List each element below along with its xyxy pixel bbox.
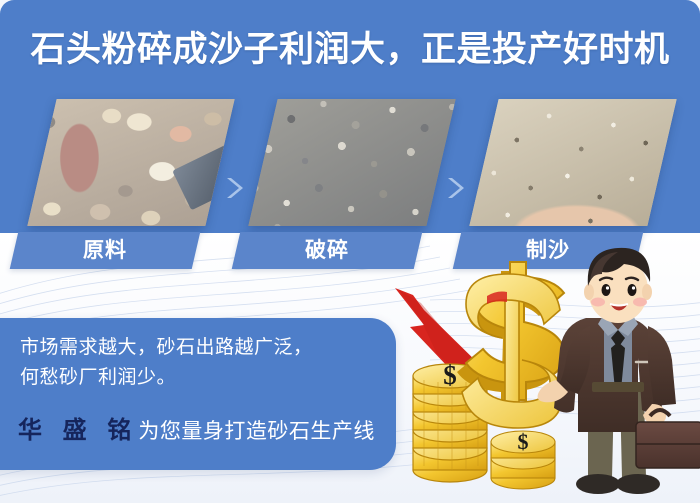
coin-stack: $ <box>413 360 487 482</box>
process-caption-label: 原料 <box>14 232 196 269</box>
process-caption-crushing: 破碎 <box>232 232 423 269</box>
businessman-with-briefcase <box>538 248 700 494</box>
chevron-right-icon <box>443 175 469 201</box>
poster-root: 石头粉碎成沙子利润大，正是投产好时机 原料 破碎 制沙 市场需求越大，砂石出路越… <box>0 0 700 503</box>
process-photo-sand-making <box>469 99 676 226</box>
promo-brand-line: 华 盛 铭为您量身打造砂石生产线 <box>18 414 375 451</box>
brand-name: 华 盛 铭 <box>18 417 138 444</box>
coin-stack-secondary: $ <box>491 429 555 489</box>
process-caption-label: 制沙 <box>457 232 639 269</box>
gravel-photo <box>248 99 455 226</box>
chevron-right-icon <box>222 175 248 201</box>
process-caption-label: 破碎 <box>236 232 418 269</box>
process-caption-raw-material: 原料 <box>10 232 201 269</box>
promo-line-1: 市场需求越大，砂石出路越广泛， <box>20 334 313 362</box>
growth-arrow-up-icon <box>395 288 487 388</box>
pebbles-photo <box>27 99 234 226</box>
promo-panel: 市场需求越大，砂石出路越广泛， 何愁砂厂利润少。 华 盛 铭为您量身打造砂石生产… <box>0 318 396 470</box>
process-photo-raw-material <box>27 99 234 226</box>
page-title: 石头粉碎成沙子利润大，正是投产好时机 <box>0 27 700 73</box>
promo-line-2: 何愁砂厂利润少。 <box>20 364 176 392</box>
dollar-sign-icon <box>457 262 564 428</box>
process-photo-crushing <box>248 99 455 226</box>
process-caption-sand-making: 制沙 <box>453 232 644 269</box>
sand-photo <box>469 99 676 226</box>
brand-tagline: 为您量身打造砂石生产线 <box>138 420 375 443</box>
coin-dollar-glyph: $ <box>443 360 457 390</box>
coin-dollar-glyph: $ <box>518 429 529 454</box>
